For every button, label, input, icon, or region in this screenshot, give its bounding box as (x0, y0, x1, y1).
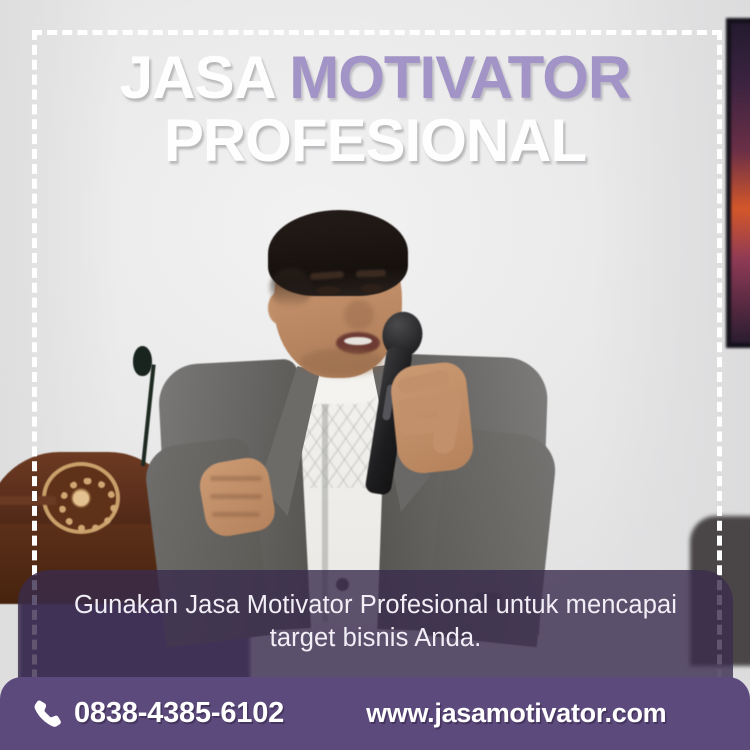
contact-bar: 0838-4385-6102 www.jasamotivator.com (0, 677, 750, 750)
phone-contact-group[interactable]: 0838-4385-6102 (32, 697, 284, 730)
chin-shadow (300, 348, 384, 376)
knuckle (212, 512, 260, 517)
framed-artwork-icon (726, 18, 750, 348)
eye-right (360, 284, 383, 293)
hair-fade (270, 268, 312, 308)
website-url[interactable]: www.jasamotivator.com (366, 698, 666, 729)
knuckle (210, 494, 262, 499)
tagline-text: Gunakan Jasa Motivator Profesional untuk… (64, 589, 687, 655)
lectern-rail (0, 496, 56, 505)
eyebrow-right (356, 269, 386, 277)
eye-left (316, 286, 341, 295)
teeth (344, 337, 372, 345)
phone-number: 0838-4385-6102 (74, 697, 284, 730)
speaker-figure (150, 196, 580, 616)
poster-canvas: JASA MOTIVATOR PROFESIONAL Gunakan Jasa … (0, 0, 750, 750)
phone-handset-icon (32, 698, 63, 729)
knuckle (210, 476, 262, 481)
nose (344, 300, 374, 330)
tagline-bar: Gunakan Jasa Motivator Profesional untuk… (18, 570, 733, 680)
